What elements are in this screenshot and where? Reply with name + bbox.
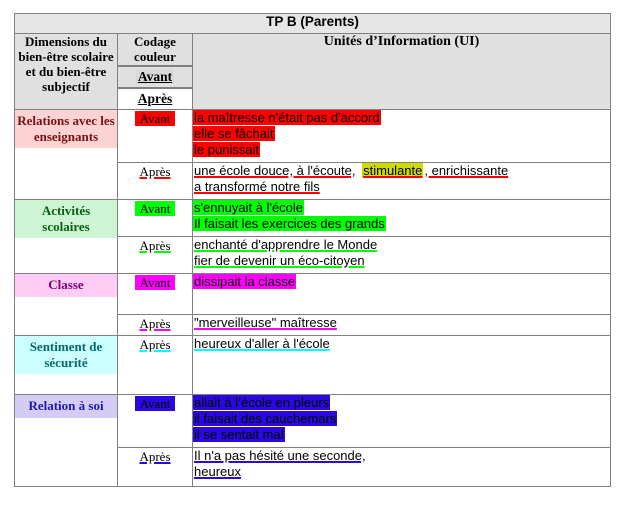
ui-text-segment: il faisait des cauchemars [193, 411, 337, 426]
ui-text-segment: dissipait la classe [193, 274, 296, 289]
ui-line: une école douce, à l'écoute, stimulante,… [193, 163, 610, 179]
apres-tag: Après [134, 238, 175, 253]
ui-line: dissipait la classe [193, 274, 610, 290]
apres-tag: Après [134, 164, 175, 179]
table-row: Sentiment de sécuritéAprèsheureux d'alle… [15, 336, 611, 395]
unites-information-cell-apres: une école douce, à l'écoute, stimulante,… [193, 163, 611, 200]
ui-line: enchanté d'apprendre le Monde [193, 237, 610, 253]
codage-couleur-cell-apres: Après [118, 315, 193, 336]
header-legend-apres-label: Après [136, 91, 175, 106]
ui-text-segment: heureux [193, 464, 242, 479]
tpb-table-container: TP B (Parents) Dimensions du bien-être s… [14, 13, 610, 487]
apres-tag: Après [134, 316, 175, 331]
codage-couleur-cell-apres: Après [118, 163, 193, 200]
dimension-label: Relations avec les enseignants [15, 110, 117, 148]
unites-information-cell-apres: enchanté d'apprendre le Mondefier de dev… [193, 237, 611, 274]
apres-text: "merveilleuse" maîtresse [193, 315, 610, 331]
ui-text-segment: "merveilleuse" maîtresse [193, 315, 338, 330]
unites-information-cell-apres: Il n'a pas hésité une seconde,heureux [193, 448, 611, 487]
tpb-results-table: TP B (Parents) Dimensions du bien-être s… [14, 13, 611, 487]
unites-information-cell-avant: dissipait la classe [193, 274, 611, 315]
ui-line: Il faisait les exercices des grands [193, 216, 610, 232]
table-row: Relation à soiAvantallait à l’école en p… [15, 395, 611, 448]
header-legend-avant-label: Avant [136, 69, 174, 84]
ui-text-segment: stimulante [362, 163, 423, 178]
avant-text: dissipait la classe [193, 274, 610, 290]
unites-information-cell-avant: s'ennuyait à l'écoleIl faisait les exerc… [193, 200, 611, 237]
header-legend-apres: Après [118, 88, 192, 109]
column-header-unites-information: Unités d’Information (UI) [193, 34, 611, 110]
dimension-label: Relation à soi [15, 395, 117, 418]
ui-text-segment: une école douce, à l'écoute, [193, 163, 357, 178]
ui-line: heureux [193, 464, 610, 480]
apres-text: heureux d'aller à l'école [193, 336, 610, 352]
apres-tag: Après [134, 337, 175, 352]
codage-couleur-cell-apres: Après [118, 336, 193, 395]
codage-couleur-cell-avant: Avant [118, 110, 193, 163]
unites-information-cell-apres: heureux d'aller à l'école [193, 336, 611, 395]
dimension-label: Sentiment de sécurité [15, 336, 117, 374]
avant-tag: Avant [135, 275, 176, 290]
column-header-dimensions: Dimensions du bien-être scolaire et du b… [15, 34, 118, 110]
column-header-codage-couleur: Codage couleur [118, 34, 193, 66]
ui-text-segment: Il n'a pas hésité une seconde, [193, 448, 367, 463]
codage-couleur-cell-apres: Après [118, 448, 193, 487]
dimension-cell: Activités scolaires [15, 200, 118, 274]
ui-line: elle se fâchait [193, 126, 610, 142]
ui-text-segment: elle se fâchait [193, 126, 275, 141]
ui-text-segment: s'ennuyait à l'école [193, 200, 304, 215]
ui-text-segment: Il faisait les exercices des grands [193, 216, 386, 231]
ui-text-segment: allait à l’école en pleurs [193, 395, 330, 410]
avant-tag: Avant [135, 111, 176, 126]
apres-text: une école douce, à l'écoute, stimulante,… [193, 163, 610, 195]
avant-text: la maîtresse n'était pas d'accordelle se… [193, 110, 610, 158]
ui-text-segment: le punissait [193, 142, 260, 157]
apres-text: enchanté d'apprendre le Mondefier de dev… [193, 237, 610, 269]
table-title-row: TP B (Parents) [15, 14, 611, 34]
ui-line: la maîtresse n'était pas d'accord [193, 110, 610, 126]
header-legend-avant: Avant [118, 66, 192, 87]
unites-information-cell-avant: allait à l’école en pleursil faisait des… [193, 395, 611, 448]
ui-text-segment: la maîtresse n'était pas d'accord [193, 110, 381, 125]
header-legend-apres-cell: Après [118, 88, 193, 110]
ui-text-segment: heureux d'aller à l'école [193, 336, 331, 351]
avant-text: s'ennuyait à l'écoleIl faisait les exerc… [193, 200, 610, 232]
ui-line: il faisait des cauchemars [193, 411, 610, 427]
ui-text-segment: il se sentait mal [193, 427, 285, 442]
codage-couleur-cell-avant: Avant [118, 200, 193, 237]
ui-line: heureux d'aller à l'école [193, 336, 610, 352]
ui-line: il se sentait mal [193, 427, 610, 443]
ui-line: a transformé notre fils [193, 179, 610, 195]
ui-line: le punissait [193, 142, 610, 158]
avant-text: allait à l’école en pleursil faisait des… [193, 395, 610, 443]
ui-line: allait à l’école en pleurs [193, 395, 610, 411]
dimension-cell: Relation à soi [15, 395, 118, 487]
apres-text: Il n'a pas hésité une seconde,heureux [193, 448, 610, 480]
dimension-label: Classe [15, 274, 117, 297]
dimension-label: Activités scolaires [15, 200, 117, 238]
unites-information-cell-apres: "merveilleuse" maîtresse [193, 315, 611, 336]
ui-text-segment: fier de devenir un éco-citoyen [193, 253, 366, 268]
dimension-cell: Sentiment de sécurité [15, 336, 118, 395]
dimension-cell: Classe [15, 274, 118, 336]
codage-couleur-cell-apres: Après [118, 237, 193, 274]
table-row: Activités scolairesAvants'ennuyait à l'é… [15, 200, 611, 237]
ui-line: Il n'a pas hésité une seconde, [193, 448, 610, 464]
avant-tag: Avant [135, 201, 176, 216]
table-row: Relations avec les enseignantsAvantla ma… [15, 110, 611, 163]
ui-line: s'ennuyait à l'école [193, 200, 610, 216]
table-body: TP B (Parents) Dimensions du bien-être s… [15, 14, 611, 487]
codage-couleur-cell-avant: Avant [118, 395, 193, 448]
unites-information-cell-avant: la maîtresse n'était pas d'accordelle se… [193, 110, 611, 163]
ui-text-segment: , enrichissante [423, 163, 509, 178]
avant-tag: Avant [135, 396, 176, 411]
page-title: TP B (Parents) [15, 14, 611, 34]
table-header-row: Dimensions du bien-être scolaire et du b… [15, 34, 611, 66]
ui-text-segment: a transformé notre fils [193, 179, 321, 194]
header-legend-avant-cell: Avant [118, 66, 193, 88]
ui-line: fier de devenir un éco-citoyen [193, 253, 610, 269]
ui-line: "merveilleuse" maîtresse [193, 315, 610, 331]
codage-couleur-cell-avant: Avant [118, 274, 193, 315]
table-row: ClasseAvantdissipait la classe [15, 274, 611, 315]
apres-tag: Après [134, 449, 175, 464]
ui-text-segment: enchanté d'apprendre le Monde [193, 237, 378, 252]
dimension-cell: Relations avec les enseignants [15, 110, 118, 200]
